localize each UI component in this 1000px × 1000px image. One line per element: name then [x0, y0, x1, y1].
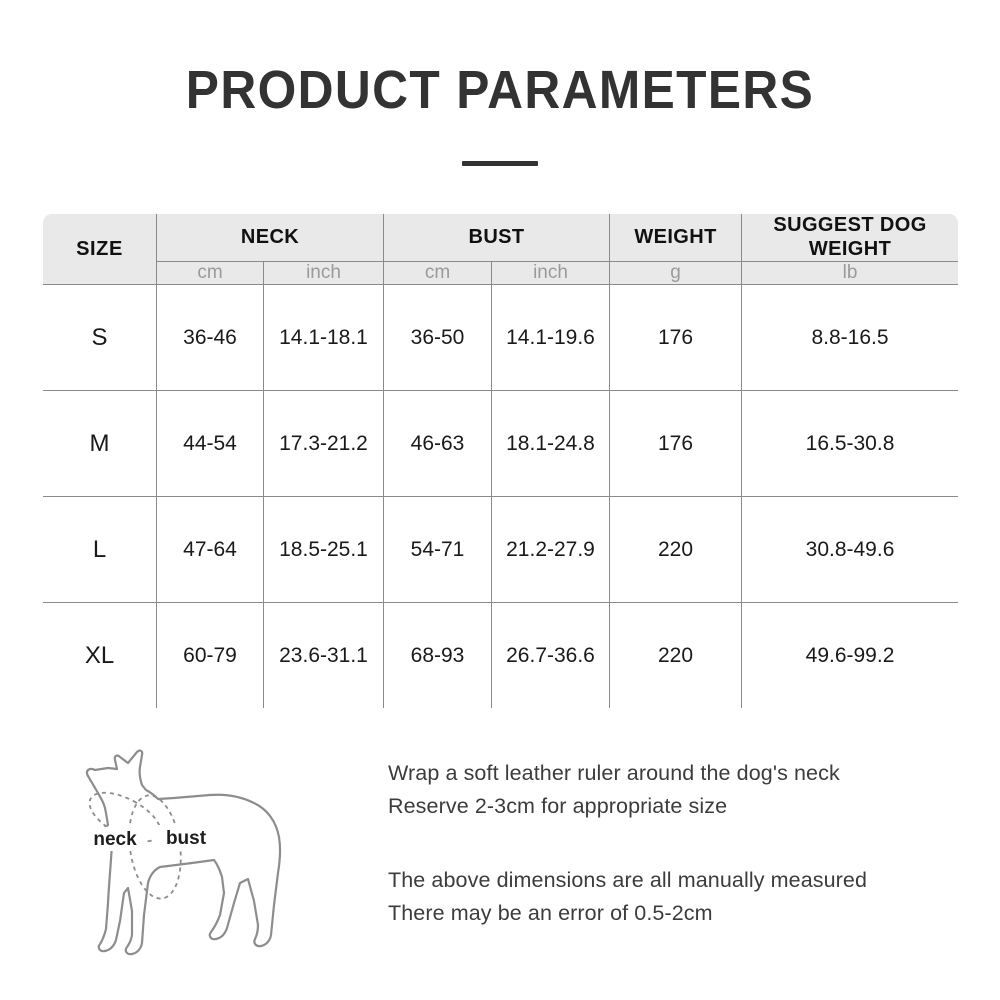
cell-neck-cm: 47-64 [157, 497, 264, 603]
cell-size: L [43, 497, 157, 603]
dog-measurement-diagram: neck bust [62, 743, 382, 988]
unit-header-bust-inch: inch [492, 262, 610, 285]
measurement-notes: Wrap a soft leather ruler around the dog… [388, 757, 968, 930]
cell-suggest-lb: 30.8-49.6 [742, 497, 959, 603]
cell-neck-cm: 60-79 [157, 603, 264, 709]
cell-suggest-lb: 8.8-16.5 [742, 285, 959, 391]
note-line: Wrap a soft leather ruler around the dog… [388, 757, 968, 790]
note-paragraph-tolerance: The above dimensions are all manually me… [388, 864, 968, 931]
unit-header-bust-cm: cm [384, 262, 492, 285]
cell-weight-g: 220 [610, 603, 742, 709]
unit-header-suggest-lb: lb [742, 262, 959, 285]
cell-bust-inch: 26.7-36.6 [492, 603, 610, 709]
measurement-guide-section: neck bust Wrap a soft leather ruler arou… [0, 735, 1000, 1000]
cell-size: M [43, 391, 157, 497]
bust-label: bust [166, 828, 207, 849]
note-line: The above dimensions are all manually me… [388, 864, 968, 897]
unit-header-weight-g: g [610, 262, 742, 285]
suggest-dog-weight-line-2: WEIGHT [809, 238, 891, 260]
table-body: S 36-46 14.1-18.1 36-50 14.1-19.6 176 8.… [43, 285, 959, 709]
cell-weight-g: 176 [610, 285, 742, 391]
note-line: There may be an error of 0.5-2cm [388, 897, 968, 930]
cell-neck-inch: 17.3-21.2 [264, 391, 384, 497]
cell-size: S [43, 285, 157, 391]
parameters-table-container: SIZE NECK BUST WEIGHT SUGGEST DOG WEIGHT… [42, 213, 958, 709]
neck-label: neck [93, 829, 137, 850]
table-row: S 36-46 14.1-18.1 36-50 14.1-19.6 176 8.… [43, 285, 959, 391]
column-header-weight: WEIGHT [610, 214, 742, 262]
table-header: SIZE NECK BUST WEIGHT SUGGEST DOG WEIGHT… [43, 214, 959, 285]
unit-header-neck-cm: cm [157, 262, 264, 285]
cell-weight-g: 176 [610, 391, 742, 497]
column-header-neck: NECK [157, 214, 384, 262]
title-divider [462, 161, 538, 166]
page-title: PRODUCT PARAMETERS [40, 62, 960, 119]
table-row: XL 60-79 23.6-31.1 68-93 26.7-36.6 220 4… [43, 603, 959, 709]
cell-bust-cm: 54-71 [384, 497, 492, 603]
column-header-size: SIZE [43, 214, 157, 285]
dog-body-outline [87, 751, 280, 955]
cell-neck-cm: 44-54 [157, 391, 264, 497]
note-line: Reserve 2-3cm for appropriate size [388, 790, 968, 823]
cell-neck-cm: 36-46 [157, 285, 264, 391]
cell-bust-inch: 14.1-19.6 [492, 285, 610, 391]
cell-bust-inch: 21.2-27.9 [492, 497, 610, 603]
table-row: L 47-64 18.5-25.1 54-71 21.2-27.9 220 30… [43, 497, 959, 603]
cell-neck-inch: 14.1-18.1 [264, 285, 384, 391]
suggest-dog-weight-line-1: SUGGEST DOG [773, 214, 926, 236]
cell-bust-cm: 36-50 [384, 285, 492, 391]
dog-outline-icon: neck bust [62, 743, 382, 988]
parameters-table: SIZE NECK BUST WEIGHT SUGGEST DOG WEIGHT… [42, 213, 959, 709]
cell-neck-inch: 18.5-25.1 [264, 497, 384, 603]
cell-suggest-lb: 16.5-30.8 [742, 391, 959, 497]
cell-bust-cm: 46-63 [384, 391, 492, 497]
cell-neck-inch: 23.6-31.1 [264, 603, 384, 709]
note-paragraph-measuring: Wrap a soft leather ruler around the dog… [388, 757, 968, 824]
cell-suggest-lb: 49.6-99.2 [742, 603, 959, 709]
cell-bust-cm: 68-93 [384, 603, 492, 709]
cell-bust-inch: 18.1-24.8 [492, 391, 610, 497]
title-block: PRODUCT PARAMETERS [0, 0, 1000, 166]
table-header-row-groups: SIZE NECK BUST WEIGHT SUGGEST DOG WEIGHT [43, 214, 959, 262]
table-row: M 44-54 17.3-21.2 46-63 18.1-24.8 176 16… [43, 391, 959, 497]
cell-size: XL [43, 603, 157, 709]
unit-header-neck-inch: inch [264, 262, 384, 285]
column-header-bust: BUST [384, 214, 610, 262]
column-header-suggest-dog-weight: SUGGEST DOG WEIGHT [742, 214, 959, 262]
table-header-row-units: cm inch cm inch g lb [43, 262, 959, 285]
cell-weight-g: 220 [610, 497, 742, 603]
